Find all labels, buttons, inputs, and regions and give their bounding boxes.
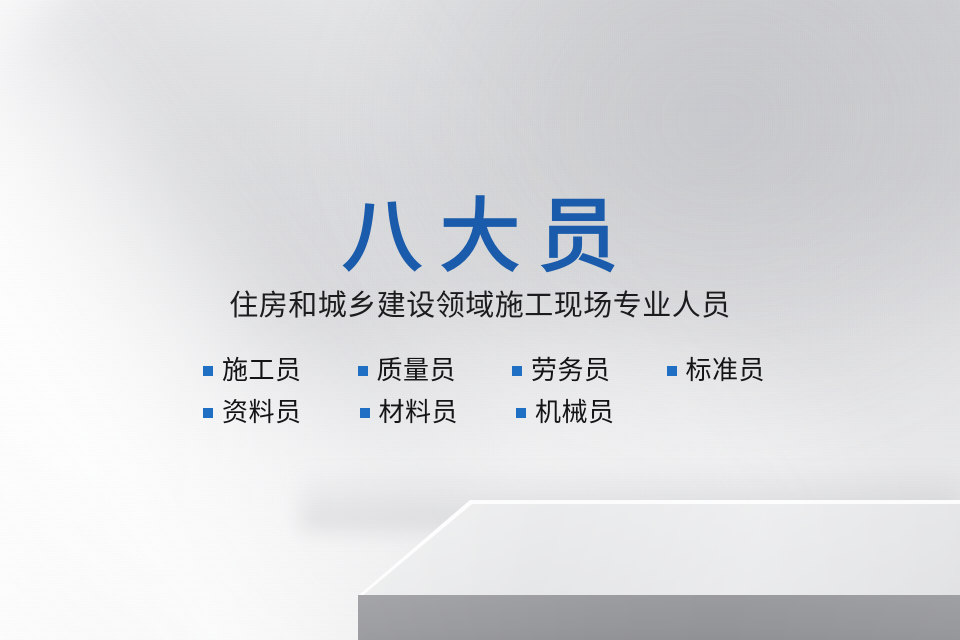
role-label: 资料员 [222, 397, 302, 429]
role-list: 施工员 质量员 劳务员 标准员 资料员 [0, 350, 960, 434]
poster-subtitle: 住房和城乡建设领域施工现场专业人员 [0, 286, 960, 324]
role-item-laowuyuan: 劳务员 [512, 355, 611, 387]
role-row-2: 资料员 材料员 机械员 [0, 392, 960, 434]
role-label: 劳务员 [531, 355, 611, 387]
role-label: 施工员 [222, 355, 302, 387]
square-bullet-icon [360, 408, 370, 418]
role-item-ziliaoyuan: 资料员 [203, 397, 302, 429]
role-label: 机械员 [535, 397, 615, 429]
role-item-shigongyuan: 施工员 [203, 355, 302, 387]
poster-content: 八大员 住房和城乡建设领域施工现场专业人员 施工员 质量员 劳务员 [0, 0, 960, 640]
square-bullet-icon [358, 366, 368, 376]
square-bullet-icon [512, 366, 522, 376]
role-label: 质量员 [377, 355, 457, 387]
square-bullet-icon [203, 408, 213, 418]
square-bullet-icon [516, 408, 526, 418]
role-item-biaozhunyuan: 标准员 [667, 355, 766, 387]
poster-title: 八大员 [0, 188, 960, 286]
role-item-zhiliangyuan: 质量员 [358, 355, 457, 387]
role-row-1: 施工员 质量员 劳务员 标准员 [0, 350, 960, 392]
square-bullet-icon [203, 366, 213, 376]
poster-canvas: 八大员 住房和城乡建设领域施工现场专业人员 施工员 质量员 劳务员 [0, 0, 960, 640]
role-label: 标准员 [686, 355, 766, 387]
role-item-jixieyuan: 机械员 [516, 397, 615, 429]
role-item-cailiaoyuan: 材料员 [360, 397, 459, 429]
role-label: 材料员 [379, 397, 459, 429]
square-bullet-icon [667, 366, 677, 376]
